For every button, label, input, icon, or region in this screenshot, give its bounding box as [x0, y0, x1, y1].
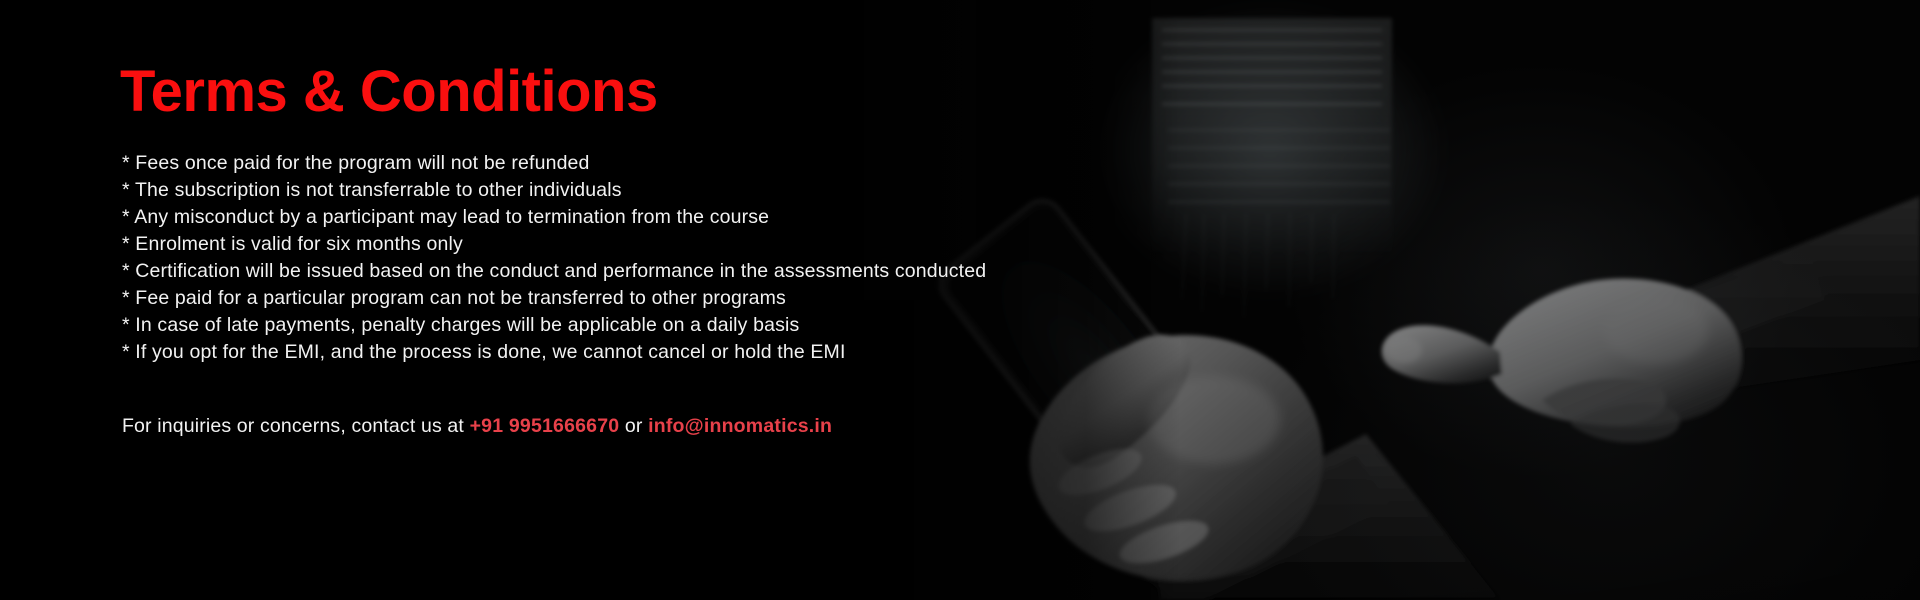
contact-lead-text: For inquiries or concerns, contact us at: [122, 415, 470, 437]
terms-and-conditions-banner: Terms & Conditions * Fees once paid for …: [0, 0, 1920, 600]
list-item: * Certification will be issued based on …: [122, 258, 986, 285]
list-item: * In case of late payments, penalty char…: [122, 312, 986, 339]
list-item: * Enrolment is valid for six months only: [122, 231, 986, 258]
list-item: * Any misconduct by a participant may le…: [122, 204, 986, 231]
contact-phone-link[interactable]: +91 9951666670: [470, 415, 620, 437]
ambient-glow-bottom: [1260, 200, 1920, 600]
list-item: * Fees once paid for the program will no…: [122, 150, 986, 177]
list-item: * If you opt for the EMI, and the proces…: [122, 339, 986, 366]
list-item: * The subscription is not transferrable …: [122, 177, 986, 204]
ambient-glow-top: [1280, 60, 1800, 480]
contact-email-link[interactable]: info@innomatics.in: [648, 415, 832, 437]
banner-content: Terms & Conditions * Fees once paid for …: [120, 0, 1240, 600]
page-title: Terms & Conditions: [120, 62, 658, 123]
contact-line: For inquiries or concerns, contact us at…: [122, 415, 832, 438]
terms-list: * Fees once paid for the program will no…: [122, 150, 986, 366]
contact-separator: or: [619, 415, 648, 437]
list-item: * Fee paid for a particular program can …: [122, 285, 986, 312]
